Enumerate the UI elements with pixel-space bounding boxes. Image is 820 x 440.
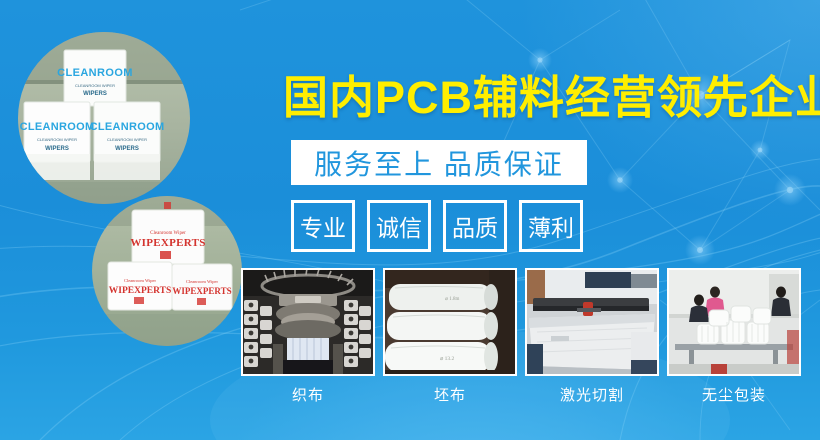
svg-text:CLEANROOM WIPER: CLEANROOM WIPER [37, 137, 77, 142]
svg-text:CLEANROOM: CLEANROOM [57, 67, 133, 79]
subtitle-banner: 服务至上 品质保证 [291, 140, 587, 185]
feature-tag-quality: 品质 [443, 200, 507, 252]
svg-text:WIPEXPERTS: WIPEXPERTS [130, 237, 205, 249]
feature-tag-label: 专业 [300, 209, 346, 243]
process-caption: 坯布 [383, 384, 517, 405]
feature-tag-label: 薄利 [528, 209, 574, 243]
process-caption: 无尘包装 [667, 384, 801, 405]
svg-text:WIPEXPERTS: WIPEXPERTS [109, 286, 171, 296]
feature-tag-integrity: 诚信 [367, 200, 431, 252]
svg-text:Cleanroom Wiper: Cleanroom Wiper [124, 278, 157, 283]
thumbnail-laser-cutting-machine [525, 268, 659, 376]
product-photo-wipexperts: Cleanroom Wiper WIPEXPERTS Cleanroom Wip… [92, 196, 242, 346]
process-caption: 织布 [241, 384, 375, 405]
feature-tag-label: 诚信 [376, 209, 422, 243]
svg-text:WIPERS: WIPERS [45, 146, 69, 152]
svg-text:WIPEXPERTS: WIPEXPERTS [172, 286, 231, 296]
process-item-greige-fabric: ⌀ 1.8m ⌀ 13.2 坯布 [383, 268, 517, 405]
svg-text:WIPERS: WIPERS [83, 91, 107, 97]
svg-text:Cleanroom Wiper: Cleanroom Wiper [186, 279, 219, 284]
svg-text:CLEANROOM WIPER: CLEANROOM WIPER [107, 137, 147, 142]
process-thumbnail-list: 织布 ⌀ 1.8m [241, 268, 801, 405]
process-item-cleanroom-packing: 无尘包装 [667, 268, 801, 405]
feature-tag-label: 品质 [452, 209, 498, 243]
feature-tag-list: 专业 诚信 品质 薄利 [291, 200, 583, 252]
svg-text:Cleanroom Wiper: Cleanroom Wiper [150, 231, 186, 236]
promo-banner: CLEANROOM CLEANROOM WIPER WIPERS CLEANRO… [0, 0, 820, 440]
feature-tag-lowmargin: 薄利 [519, 200, 583, 252]
page-title: 国内PCB辅料经营领先企业 [283, 73, 820, 123]
svg-text:CLEANROOM: CLEANROOM [20, 121, 95, 133]
svg-text:CLEANROOM WIPER: CLEANROOM WIPER [75, 83, 115, 88]
thumbnail-greige-fabric-rolls: ⌀ 1.8m ⌀ 13.2 [383, 268, 517, 376]
feature-tag-professional: 专业 [291, 200, 355, 252]
process-item-laser-cutting: 激光切割 [525, 268, 659, 405]
product-photo-cleanroom-wipers: CLEANROOM CLEANROOM WIPER WIPERS CLEANRO… [18, 32, 190, 204]
svg-text:⌀ 13.2: ⌀ 13.2 [440, 356, 455, 362]
thumbnail-cleanroom-packing-workers [667, 268, 801, 376]
thumbnail-circular-knitting-machine [241, 268, 375, 376]
svg-text:CLEANROOM: CLEANROOM [90, 121, 165, 133]
subtitle-text: 服务至上 品质保证 [314, 143, 564, 183]
svg-text:WIPERS: WIPERS [115, 146, 139, 152]
process-item-weaving: 织布 [241, 268, 375, 405]
process-caption: 激光切割 [525, 384, 659, 405]
svg-text:⌀ 1.8m: ⌀ 1.8m [445, 297, 460, 302]
